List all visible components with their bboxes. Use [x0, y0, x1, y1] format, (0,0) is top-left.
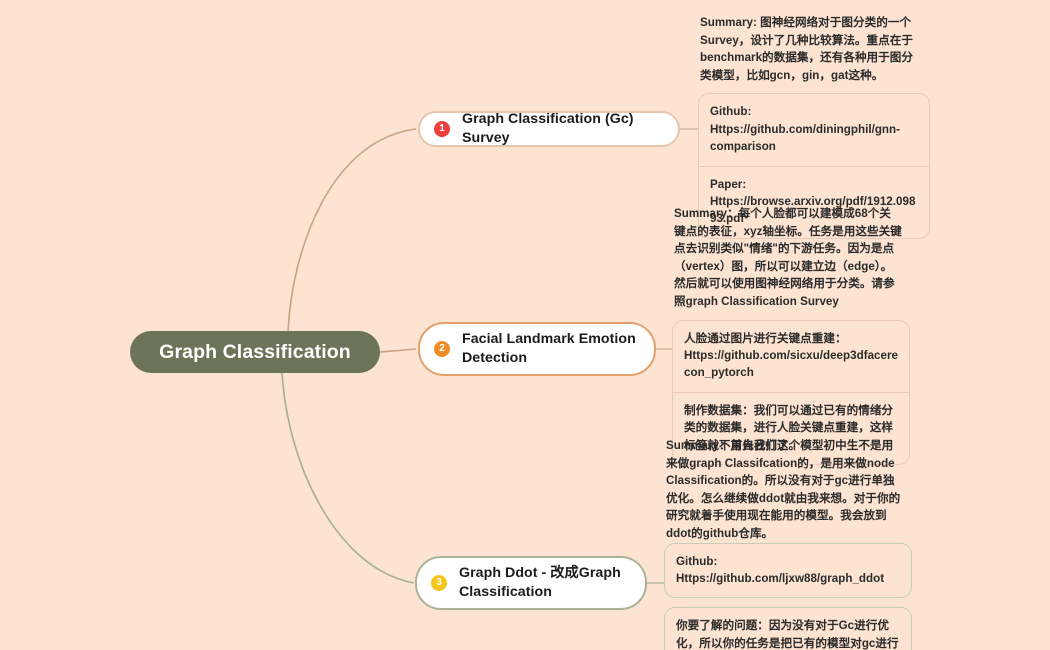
branch-1-number-badge: 1 — [434, 121, 450, 137]
branch-3-task-card[interactable]: 你要了解的问题：因为没有对于Gc进行优化，所以你的任务是把已有的模型对gc进行优… — [664, 607, 912, 650]
branch-3-github-card[interactable]: Github: Https://github.com/ljxw88/graph_… — [665, 544, 911, 598]
branch-2-summary-note[interactable]: Summary：每个人脸都可以建模成68个关键点的表征，xyz轴坐标。任务是用这… — [672, 205, 906, 311]
branch-2-reconstruction-card[interactable]: 人脸通过图片进行关键点重建： Https://github.com/sicxu/… — [673, 321, 909, 392]
branch-3-summary-note[interactable]: Summary：首先我们这个模型初中生不是用来做graph Classifcat… — [664, 437, 908, 543]
root-node-label: Graph Classification — [159, 341, 351, 364]
root-node[interactable]: Graph Classification — [130, 331, 380, 373]
branch-3-label: Graph Ddot - 改成Graph Classification — [459, 564, 629, 601]
branch-2-label: Facial Landmark Emotion Detection — [462, 330, 638, 367]
note-group-2: Summary：每个人脸都可以建模成68个关键点的表征，xyz轴坐标。任务是用这… — [672, 205, 910, 465]
branch-3-number-badge: 3 — [431, 575, 447, 591]
branch-1-summary-note[interactable]: Summary: 图神经网络对于图分类的一个Survey，设计了几种比较算法。重… — [698, 14, 926, 84]
branch-node-2[interactable]: 2 Facial Landmark Emotion Detection — [418, 322, 656, 376]
branch-node-1[interactable]: 1 Graph Classification (Gc) Survey — [418, 111, 680, 147]
wire-root-to-branch-3 — [282, 373, 414, 583]
branch-1-github-card[interactable]: Github: Https://github.com/diningphil/gn… — [699, 94, 929, 165]
mindmap-canvas: Graph Classification 1 Graph Classificat… — [0, 0, 1050, 650]
branch-3-card-stack: Github: Https://github.com/ljxw88/graph_… — [664, 543, 912, 599]
wire-root-to-branch-1 — [288, 129, 416, 331]
note-group-3: Summary：首先我们这个模型初中生不是用来做graph Classifcat… — [664, 437, 912, 650]
branch-node-3[interactable]: 3 Graph Ddot - 改成Graph Classification — [415, 556, 647, 610]
branch-2-number-badge: 2 — [434, 341, 450, 357]
wire-root-to-branch-2 — [380, 349, 416, 352]
branch-1-label: Graph Classification (Gc) Survey — [462, 110, 662, 147]
